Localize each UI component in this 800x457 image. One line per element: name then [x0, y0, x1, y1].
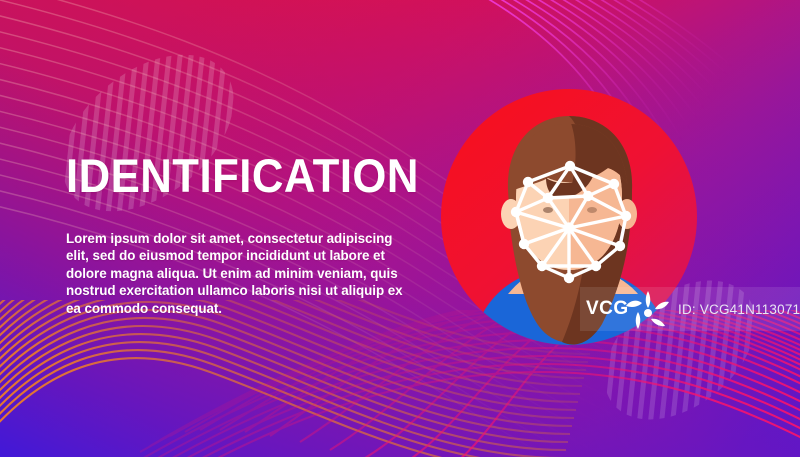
watermark-band: VCG ID: VCG41N1130711341 — [580, 287, 800, 331]
vcg-wordmark: VCG — [586, 298, 629, 320]
eye-right — [587, 207, 597, 213]
banner-canvas: IDENTIFICATION Lorem ipsum dolor sit ame… — [0, 0, 800, 457]
watermark-id-label: ID: VCG41N1130711341 — [678, 302, 800, 317]
body-paragraph: Lorem ipsum dolor sit amet, consectetur … — [66, 230, 406, 317]
vcg-pinwheel-icon — [624, 289, 672, 331]
eye-left — [543, 207, 553, 213]
page-title: IDENTIFICATION — [66, 152, 419, 199]
vcg-logo: VCG — [580, 287, 676, 331]
